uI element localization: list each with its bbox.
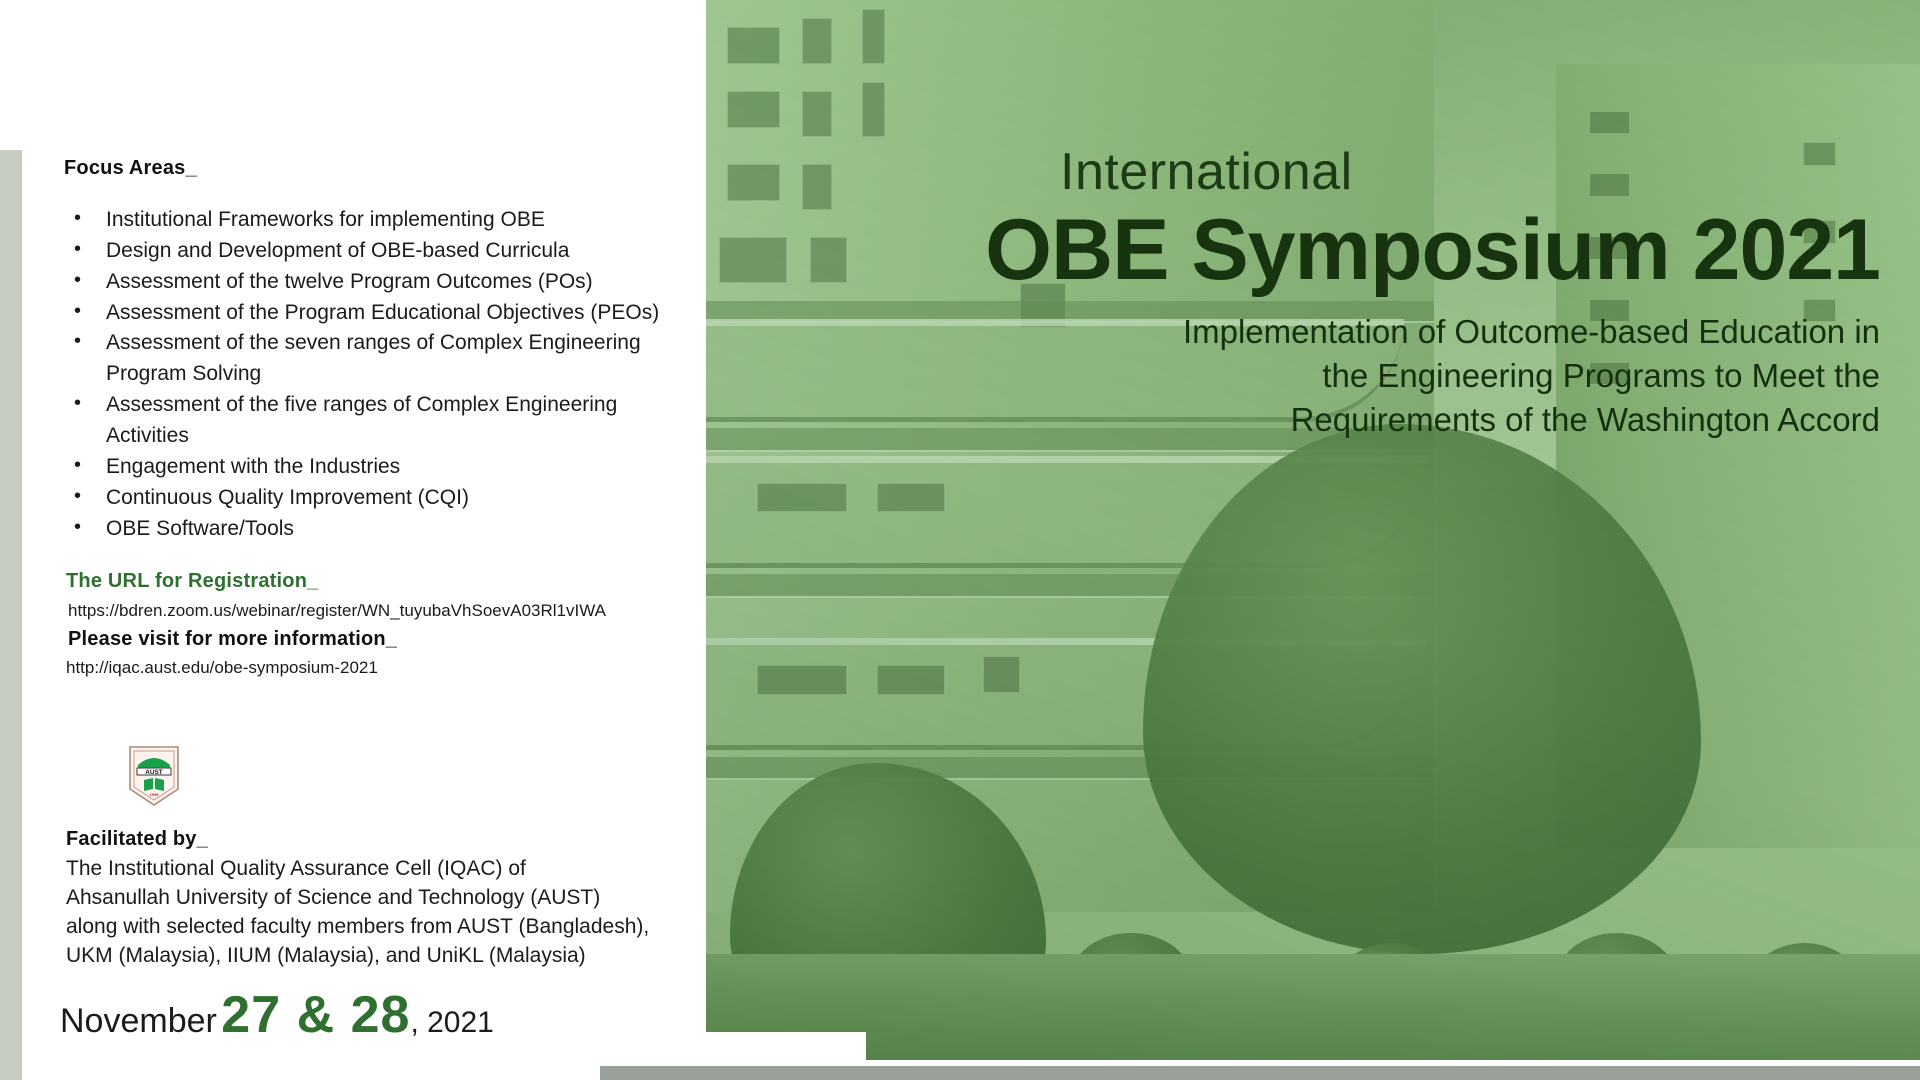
page-title: OBE Symposium 2021 (760, 202, 1880, 298)
svg-text:AUST: AUST (145, 769, 162, 776)
facilitated-by-heading: Facilitated by_ (66, 828, 208, 851)
registration-heading: The URL for Registration_ (66, 570, 318, 593)
facilitator-line: along with selected faculty members from… (66, 913, 666, 942)
title-block: International OBE Symposium 2021 Impleme… (760, 145, 1880, 443)
list-item: Institutional Frameworks for implementin… (64, 205, 664, 236)
list-item: Engagement with the Industries (64, 452, 664, 483)
title-kicker: International (1060, 145, 1880, 200)
focus-areas-heading: Focus Areas_ (64, 157, 197, 180)
event-date: November 27 & 28, 2021 (60, 985, 494, 1045)
registration-url[interactable]: https://bdren.zoom.us/webinar/register/W… (68, 601, 606, 621)
date-year: , 2021 (410, 1006, 493, 1039)
list-item: Assessment of the Program Educational Ob… (64, 298, 664, 329)
facilitator-line: Ahsanullah University of Science and Tec… (66, 884, 666, 913)
title-subtitle: Implementation of Outcome-based Educatio… (760, 310, 1880, 443)
poster-canvas: International OBE Symposium 2021 Impleme… (0, 0, 1920, 1080)
facilitator-line: UKM (Malaysia), IIUM (Malaysia), and Uni… (66, 942, 666, 971)
list-item: OBE Software/Tools (64, 514, 664, 545)
list-item: Continuous Quality Improvement (CQI) (64, 483, 664, 514)
bottom-accent-bar (600, 1066, 1920, 1080)
facilitated-by-body: The Institutional Quality Assurance Cell… (66, 855, 666, 971)
subtitle-line: Implementation of Outcome-based Educatio… (760, 310, 1880, 354)
list-item: Assessment of the five ranges of Complex… (64, 390, 664, 452)
more-info-heading: Please visit for more information_ (68, 628, 397, 651)
date-days: 27 & 28 (221, 986, 410, 1044)
list-item: Design and Development of OBE-based Curr… (64, 236, 664, 267)
subtitle-line: Requirements of the Washington Accord (760, 398, 1880, 442)
left-accent-bar (0, 150, 22, 1080)
list-item: Assessment of the twelve Program Outcome… (64, 267, 664, 298)
date-month: November (60, 1002, 217, 1040)
svg-text:1995: 1995 (150, 792, 160, 797)
more-info-url[interactable]: http://iqac.aust.edu/obe-symposium-2021 (66, 658, 378, 678)
facilitator-line: The Institutional Quality Assurance Cell… (66, 855, 666, 884)
subtitle-line: the Engineering Programs to Meet the (760, 354, 1880, 398)
focus-areas-list: Institutional Frameworks for implementin… (64, 205, 664, 544)
aust-logo: AUST 1995 (126, 745, 182, 807)
list-item: Assessment of the seven ranges of Comple… (64, 328, 664, 390)
photo-corner-notch (706, 1032, 866, 1060)
